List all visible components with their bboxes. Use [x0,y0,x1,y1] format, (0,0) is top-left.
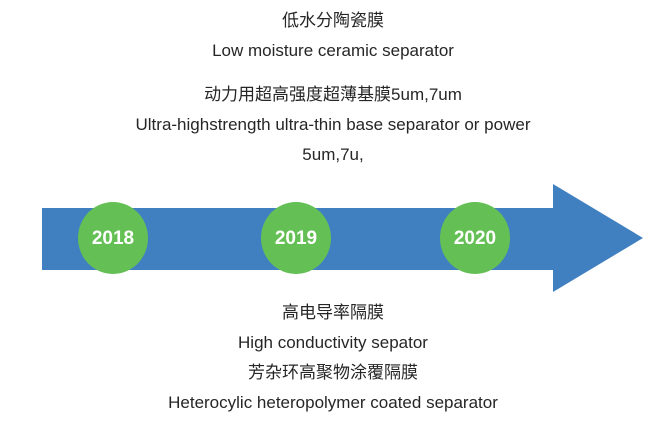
bottom-text-line-cn-1: 高电导率隔膜 [0,298,666,328]
top-text-line-en-1: Low moisture ceramic separator [0,36,666,66]
bottom-text-line-en-2: Heterocylic heteropolymer coated separat… [0,388,666,418]
top-text-line-en-2: Ultra-highstrength ultra-thin base separ… [0,110,666,140]
top-text-spacer [0,66,666,80]
bottom-text-line-cn-2: 芳杂环高聚物涂覆隔膜 [0,358,666,388]
milestone-label: 2018 [92,229,134,248]
top-text-line-cn-2: 动力用超高强度超薄基膜5um,7um [0,80,666,110]
timeline-milestone-2020[interactable]: 2020 [440,202,510,274]
timeline-slide: 低水分陶瓷膜 Low moisture ceramic separator 动力… [0,0,666,439]
timeline-milestone-2018[interactable]: 2018 [78,202,148,274]
milestone-label: 2020 [454,229,496,248]
milestone-label: 2019 [275,229,317,248]
bottom-text-line-en-1: High conductivity sepator [0,328,666,358]
top-text-block: 低水分陶瓷膜 Low moisture ceramic separator 动力… [0,6,666,170]
bottom-text-block: 高电导率隔膜 High conductivity sepator 芳杂环高聚物涂… [0,298,666,418]
timeline-arrow-group: 2018 2019 2020 [0,160,666,310]
top-text-line-cn-1: 低水分陶瓷膜 [0,6,666,36]
timeline-milestone-2019[interactable]: 2019 [261,202,331,274]
